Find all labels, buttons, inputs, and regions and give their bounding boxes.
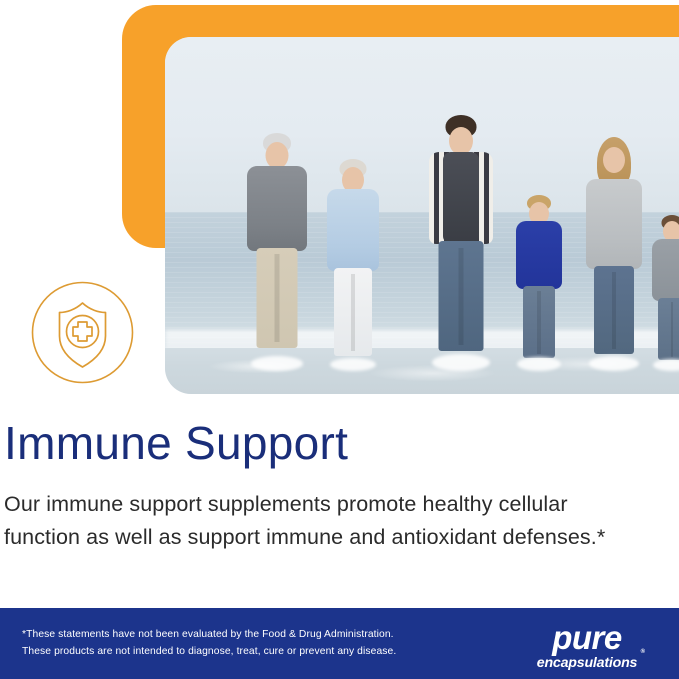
torso-grey-cardigan [586, 179, 642, 269]
legs-blue-jeans [439, 241, 484, 351]
torso-blue-sweater [327, 189, 379, 271]
torso-grey-jacket [652, 239, 679, 301]
quilted-vest [443, 152, 479, 244]
fda-disclaimer-text: *These statements have not been evaluate… [22, 627, 396, 660]
torso-grey-sweater [247, 166, 307, 251]
person-elder-woman [320, 159, 386, 365]
water-splash [330, 358, 376, 371]
water-splash [517, 357, 561, 371]
head [266, 142, 289, 169]
person-father [420, 115, 502, 365]
legs-white-pants [334, 268, 372, 356]
shield-medical-cross-icon [31, 281, 134, 384]
page-title: Immune Support [4, 418, 348, 469]
registered-trademark-icon: ® [641, 649, 645, 655]
person-boy [510, 195, 568, 365]
head [449, 127, 473, 155]
person-elder-man [240, 133, 314, 365]
water-splash [589, 356, 639, 371]
beach-scene-illustration [165, 37, 679, 394]
legs-khaki-pants [257, 248, 298, 348]
hero-photo [165, 37, 679, 394]
page-description: Our immune support supplements promote h… [4, 488, 624, 553]
brand-name: pure [517, 621, 657, 654]
head [603, 147, 625, 173]
brand-logo: pure encapsulations ® [517, 621, 657, 670]
brand-tagline: encapsulations [517, 656, 657, 670]
water-splash [251, 356, 303, 371]
torso-blue-hoodie [516, 221, 562, 289]
person-child [647, 215, 679, 365]
person-mother [577, 137, 651, 365]
water-splash [432, 354, 490, 371]
footer-bar: *These statements have not been evaluate… [0, 608, 679, 679]
legs-jeans [594, 266, 634, 354]
legs-jeans [658, 298, 679, 360]
legs-jeans [523, 286, 555, 358]
